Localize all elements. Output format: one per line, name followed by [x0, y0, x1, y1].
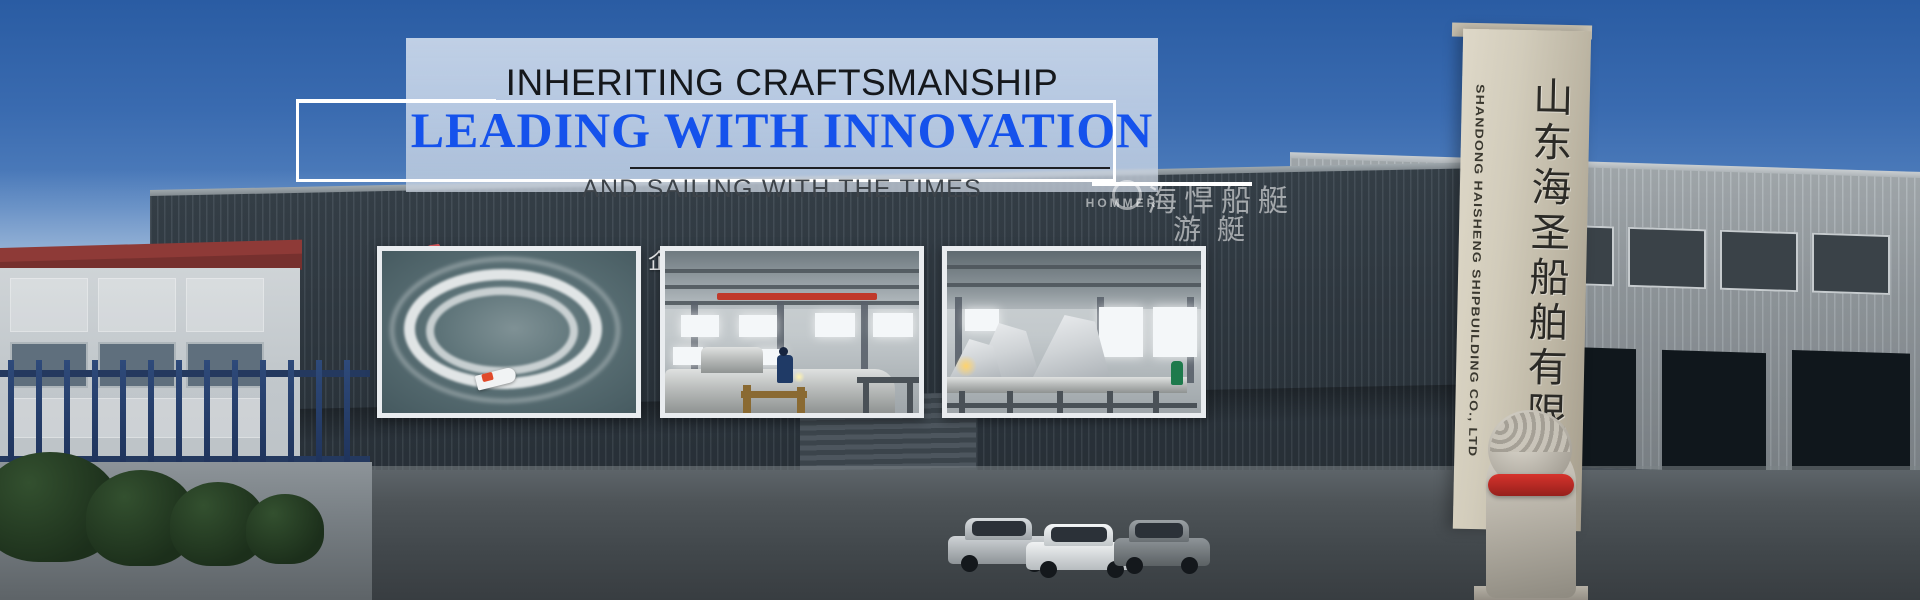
- parked-car: [1114, 522, 1210, 574]
- shrub: [246, 494, 324, 564]
- red-ribbon: [1488, 474, 1574, 496]
- stone-lion-statue: [1472, 410, 1590, 600]
- headline-main: LEADING WITH INNOVATION: [406, 101, 1158, 159]
- wake-ring-inner: [426, 287, 578, 375]
- headline-divider: [630, 167, 1110, 169]
- thumbnail-aerial-boat[interactable]: [377, 246, 641, 418]
- headline-sub: AND SAILING WITH THE TIMES: [406, 175, 1158, 204]
- thumbnail-hull-welding[interactable]: [660, 246, 924, 418]
- hero-banner: 山东海圣船舶有限公司 SHANDONG HAISHENG SHIPBUILDIN…: [0, 0, 1920, 600]
- brand-cn-watermark-line2: 游艇: [1173, 208, 1261, 248]
- factory-scene: [947, 251, 1201, 413]
- factory-scene: [665, 251, 919, 413]
- thumbnail-wrapped-vessel[interactable]: [942, 246, 1206, 418]
- headline-top: INHERITING CRAFTSMANSHIP: [406, 62, 1158, 104]
